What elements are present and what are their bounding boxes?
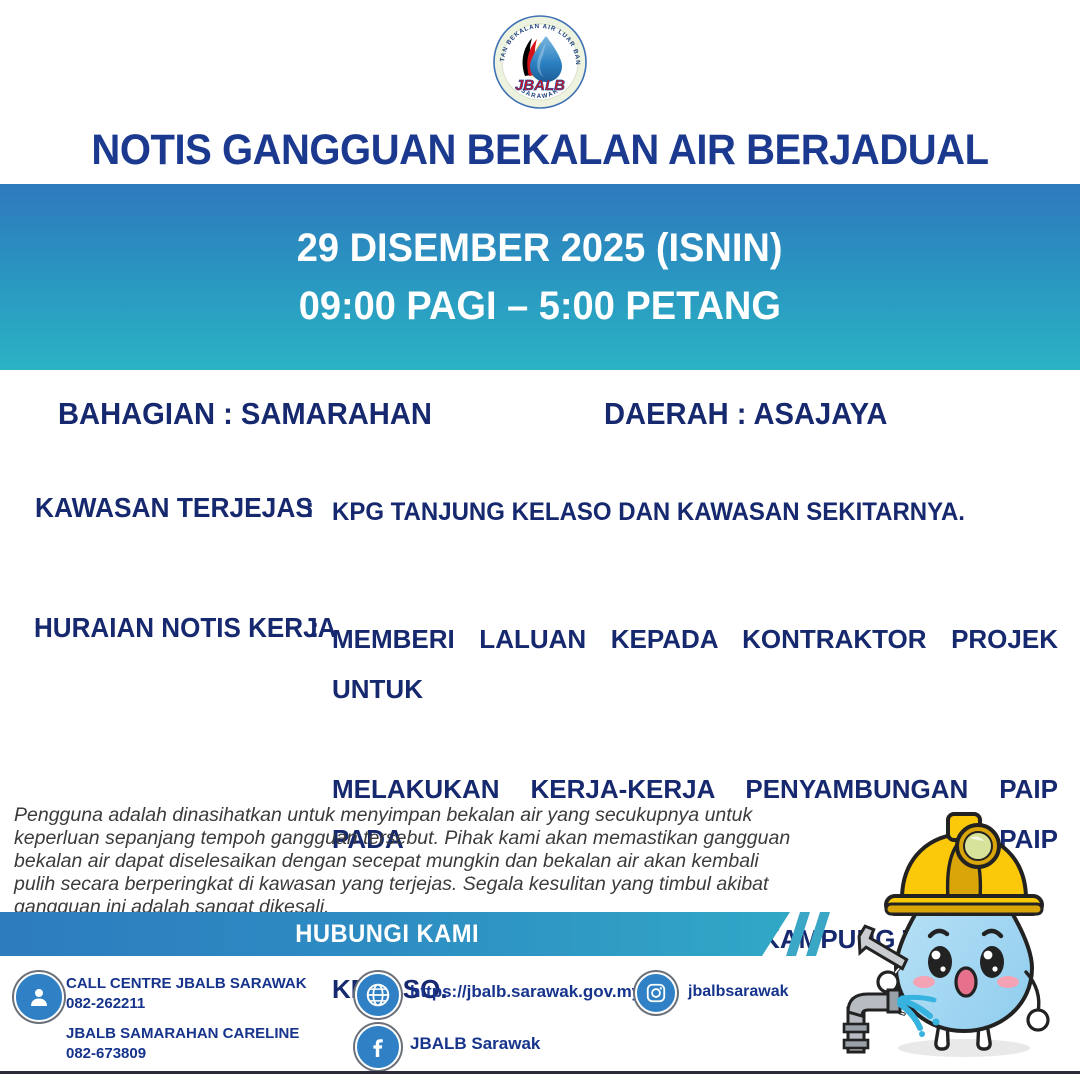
instagram-handle[interactable]: jbalbsarawak bbox=[688, 982, 789, 1002]
careline-name: JBALB SAMARAHAN CARELINE bbox=[66, 1024, 299, 1044]
disclaimer-text: Pengguna adalah dinasihatkan untuk menyi… bbox=[14, 804, 794, 919]
kawasan-colon: : bbox=[305, 492, 314, 524]
svg-text:JBALB: JBALB bbox=[515, 77, 565, 94]
banner-stripe-2 bbox=[806, 912, 836, 956]
careline-phone[interactable]: 082-673809 bbox=[66, 1044, 299, 1064]
huraian-line-1: MEMBERI LALUAN KEPADA KONTRAKTOR PROJEK … bbox=[332, 614, 1058, 764]
water-droplet-logo: JABATAN BEKALAN AIR LUAR BANDAR SARAWAK … bbox=[492, 10, 588, 114]
contact-banner-label: HUBUNGI KAMI bbox=[295, 920, 479, 949]
facebook-handle[interactable]: JBALB Sarawak bbox=[410, 1034, 540, 1054]
page-title: NOTIS GANGGUAN BEKALAN AIR BERJADUAL bbox=[38, 126, 1042, 175]
website-url[interactable]: https://jbalb.sarawak.gov.my/ bbox=[410, 982, 646, 1002]
huraian-colon: : bbox=[310, 612, 319, 644]
careline-block: JBALB SAMARAHAN CARELINE 082-673809 bbox=[66, 1024, 299, 1064]
division-district-row: BAHAGIAN : SAMARAHAN DAERAH : ASAJAYA bbox=[0, 396, 1080, 438]
outage-time: 09:00 PAGI – 5:00 PETANG bbox=[299, 277, 781, 335]
mascot-illustration bbox=[836, 786, 1080, 1072]
kawasan-terjejas-label: KAWASAN TERJEJAS bbox=[35, 492, 313, 524]
person-icon bbox=[14, 972, 64, 1022]
call-centre-phone[interactable]: 082-262211 bbox=[66, 994, 307, 1014]
globe-glyph bbox=[365, 982, 391, 1008]
instagram-glyph bbox=[645, 982, 667, 1004]
facebook-glyph bbox=[366, 1035, 390, 1059]
bahagian-value: BAHAGIAN : SAMARAHAN bbox=[58, 396, 432, 432]
date-time-banner: 29 DISEMBER 2025 (ISNIN) 09:00 PAGI – 5:… bbox=[0, 184, 1080, 370]
water-droplet-worker-mascot bbox=[836, 786, 1080, 1072]
instagram-icon[interactable] bbox=[635, 972, 677, 1014]
person-glyph bbox=[27, 985, 51, 1009]
jbalb-logo: JABATAN BEKALAN AIR LUAR BANDAR SARAWAK … bbox=[492, 10, 588, 114]
kawasan-terjejas-value: KPG TANJUNG KELASO DAN KAWASAN SEKITARNY… bbox=[332, 498, 965, 527]
globe-icon[interactable] bbox=[355, 972, 401, 1018]
outage-date: 29 DISEMBER 2025 (ISNIN) bbox=[297, 219, 783, 277]
call-centre-block: CALL CENTRE JBALB SARAWAK 082-262211 bbox=[66, 974, 307, 1014]
huraian-notis-kerja-label: HURAIAN NOTIS KERJA bbox=[34, 612, 336, 644]
contact-banner-body: HUBUNGI KAMI bbox=[0, 912, 790, 956]
bottom-divider bbox=[0, 1071, 1080, 1074]
daerah-value: DAERAH : ASAJAYA bbox=[604, 396, 887, 432]
facebook-icon[interactable] bbox=[355, 1024, 401, 1070]
call-centre-name: CALL CENTRE JBALB SARAWAK bbox=[66, 974, 307, 994]
notice-poster: JABATAN BEKALAN AIR LUAR BANDAR SARAWAK … bbox=[0, 0, 1080, 1080]
